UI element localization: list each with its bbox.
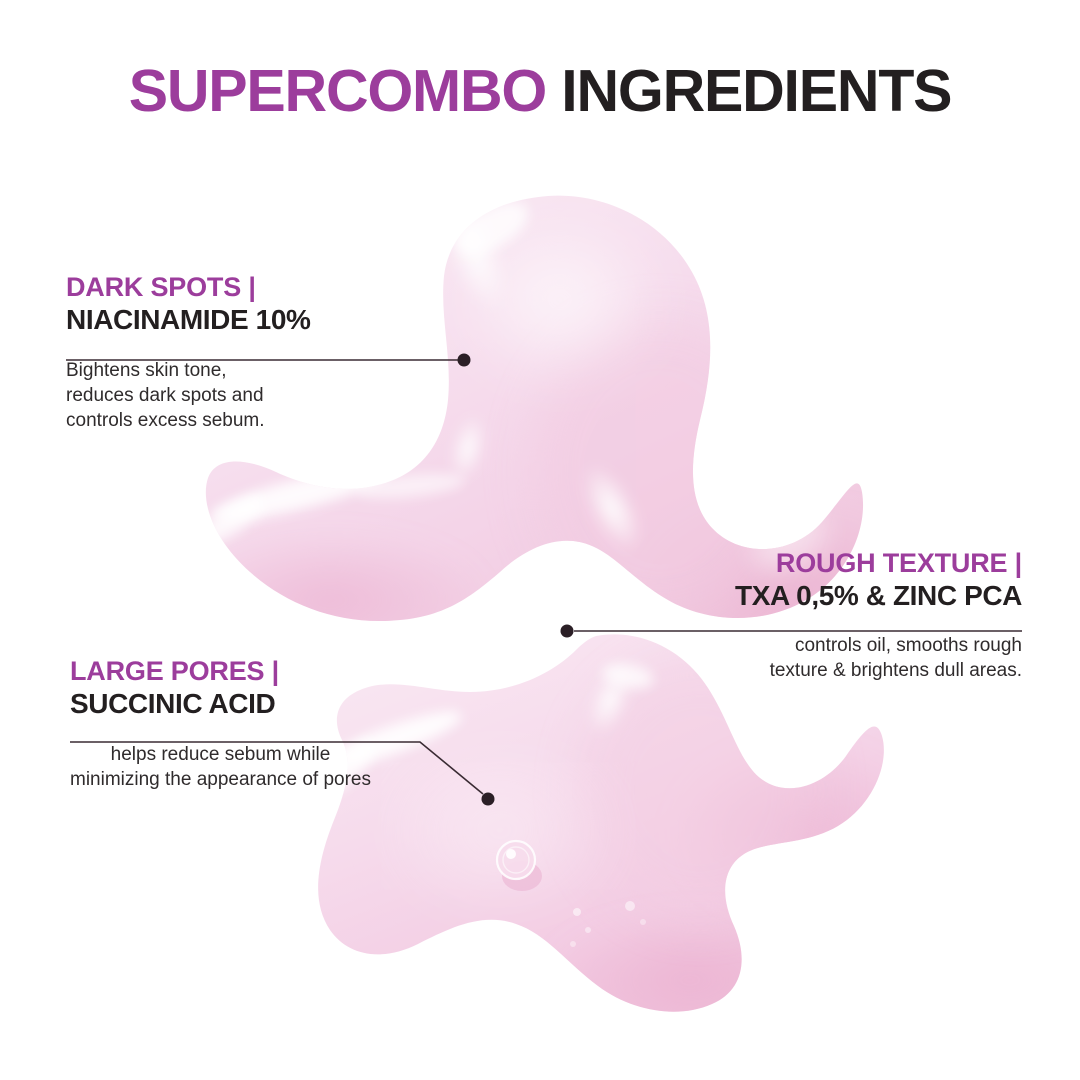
- infographic-page: SUPERCOMBO INGREDIENTS: [0, 0, 1080, 1080]
- callout-dark-spots-body-line: reduces dark spots and: [66, 383, 310, 408]
- callout-dark-spots-body-line: controls excess sebum.: [66, 408, 310, 433]
- callout-rough-texture-ingredient: TXA 0,5% & ZINC PCA: [735, 579, 1022, 612]
- callout-rough-texture-body-line: controls oil, smooths rough: [735, 633, 1022, 658]
- callout-dark-spots: DARK SPOTS | NIACINAMIDE 10% Bightens sk…: [66, 272, 310, 434]
- callout-large-pores-body-line: helps reduce sebum while: [70, 742, 371, 767]
- callout-rough-texture-body-line: texture & brightens dull areas.: [735, 658, 1022, 683]
- callout-large-pores-body: helps reduce sebum while minimizing the …: [70, 742, 371, 793]
- callout-dark-spots-kicker: DARK SPOTS |: [66, 272, 310, 303]
- callout-rough-texture-kicker: ROUGH TEXTURE |: [735, 548, 1022, 579]
- callout-large-pores-body-line: minimizing the appearance of pores: [70, 767, 371, 792]
- callout-dark-spots-body: Bightens skin tone, reduces dark spots a…: [66, 358, 310, 434]
- callout-rough-texture-body: controls oil, smooths rough texture & br…: [735, 633, 1022, 684]
- callout-large-pores-kicker: LARGE PORES |: [70, 656, 371, 687]
- callout-dark-spots-ingredient: NIACINAMIDE 10%: [66, 303, 310, 336]
- callout-large-pores: LARGE PORES | SUCCINIC ACID helps reduce…: [70, 656, 371, 792]
- callout-rough-texture: ROUGH TEXTURE | TXA 0,5% & ZINC PCA cont…: [735, 548, 1022, 683]
- leader-dot-large-pores: [482, 793, 495, 806]
- callout-dark-spots-body-line: Bightens skin tone,: [66, 358, 310, 383]
- leader-lines: [0, 0, 1080, 1080]
- callout-large-pores-ingredient: SUCCINIC ACID: [70, 687, 371, 720]
- leader-dot-rough-texture: [561, 625, 574, 638]
- leader-dot-dark-spots: [458, 354, 471, 367]
